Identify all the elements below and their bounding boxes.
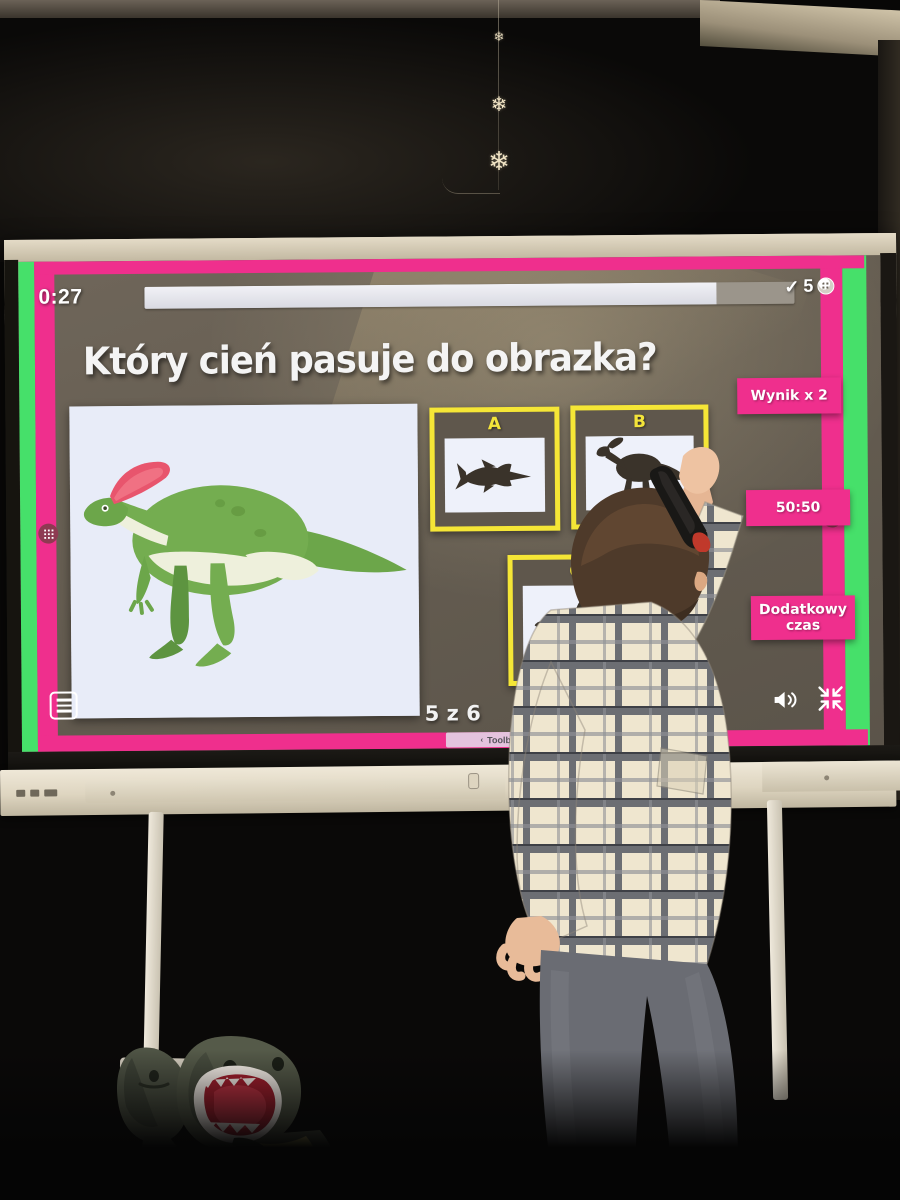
rail-pink-left bbox=[34, 262, 58, 752]
menu-icon[interactable] bbox=[50, 691, 78, 719]
prompt-picture bbox=[69, 404, 419, 719]
menu-bar bbox=[56, 699, 71, 702]
snowflake-garland: ❄ ❄ ❄ bbox=[497, 0, 501, 190]
menu-bar bbox=[56, 710, 71, 713]
snowflake-icon: ❄ bbox=[491, 95, 508, 115]
stylus-pen bbox=[648, 462, 728, 552]
snowflake-icon: ❄ bbox=[494, 30, 505, 43]
board-speaker-grille bbox=[85, 777, 505, 803]
check-icon: ✓ bbox=[784, 277, 799, 295]
curtain-sheen bbox=[0, 12, 760, 262]
question-text: Który cień pasuje do obrazka? bbox=[83, 334, 734, 383]
progress-bar-fill bbox=[144, 282, 716, 308]
snowflake-icon: ❄ bbox=[488, 148, 510, 174]
score-indicator: ✓ 5 bbox=[784, 275, 834, 296]
board-indicator-dot bbox=[110, 791, 115, 796]
classroom-photo-scene: ❄ ❄ ❄ 0:27 ✓ 5 bbox=[0, 0, 900, 1200]
powerup-double-score[interactable]: Wynik x 2 bbox=[737, 377, 841, 414]
menu-bar bbox=[56, 704, 71, 707]
score-badge-icon bbox=[817, 277, 834, 294]
ceiling-edge bbox=[0, 0, 720, 18]
board-port bbox=[16, 790, 25, 797]
board-usb-port[interactable] bbox=[44, 789, 57, 796]
countdown-timer: 0:27 bbox=[38, 285, 82, 309]
drag-grip-icon[interactable] bbox=[38, 524, 58, 544]
board-port bbox=[30, 790, 39, 797]
score-value: 5 bbox=[803, 276, 813, 297]
grip-dots bbox=[43, 528, 54, 539]
parasaurolophus-illustration bbox=[69, 404, 419, 719]
garland-thread-curl bbox=[442, 178, 500, 194]
floor-shadow bbox=[0, 1050, 900, 1200]
